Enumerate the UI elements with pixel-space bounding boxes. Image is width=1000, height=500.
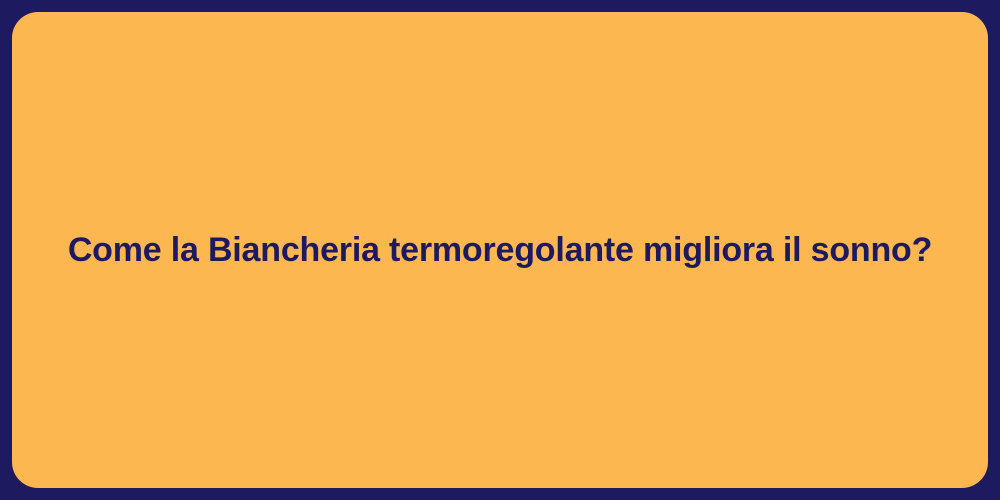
banner-frame: Come la Biancheria termoregolante miglio… [0, 0, 1000, 500]
banner-heading: Come la Biancheria termoregolante miglio… [68, 229, 932, 272]
banner-panel: Come la Biancheria termoregolante miglio… [12, 12, 988, 488]
